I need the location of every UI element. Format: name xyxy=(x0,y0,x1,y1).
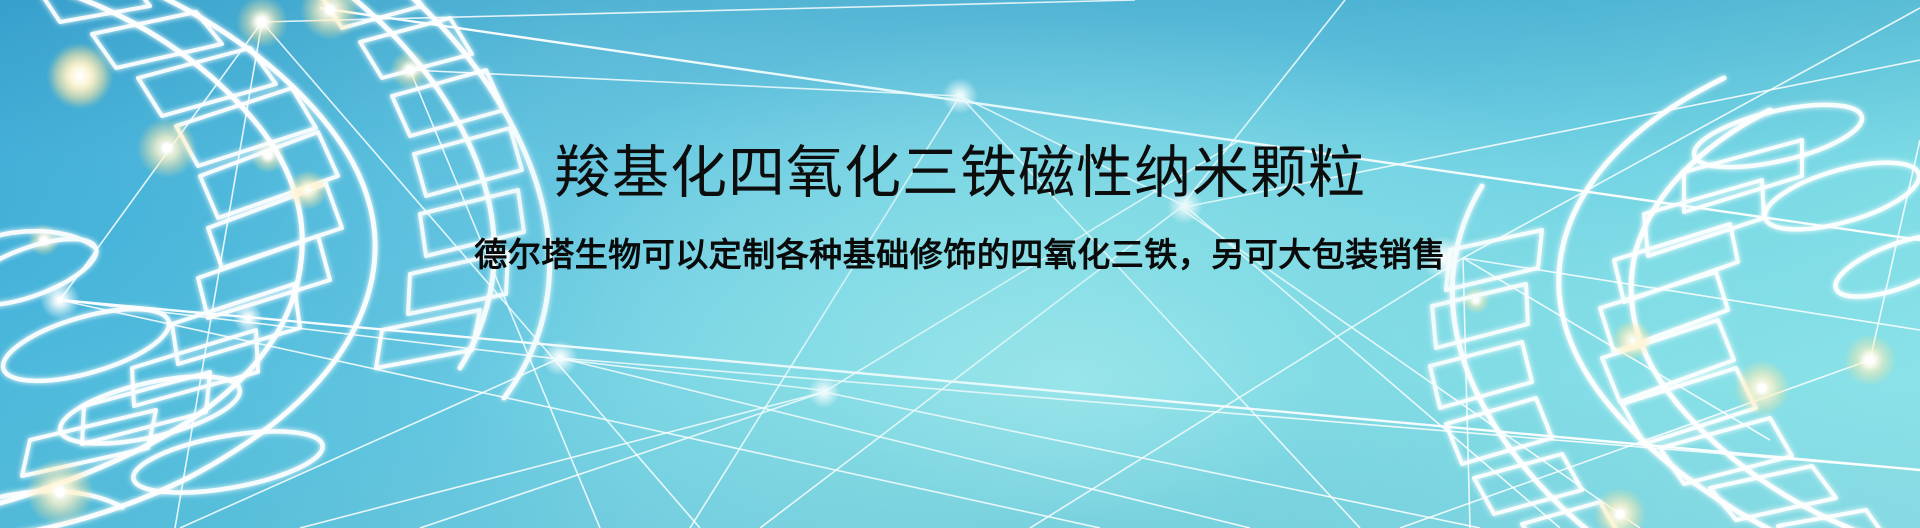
artwork-blend-overlay xyxy=(0,0,1920,528)
hero-banner: 羧基化四氧化三铁磁性纳米颗粒 德尔塔生物可以定制各种基础修饰的四氧化三铁，另可大… xyxy=(0,0,1920,528)
